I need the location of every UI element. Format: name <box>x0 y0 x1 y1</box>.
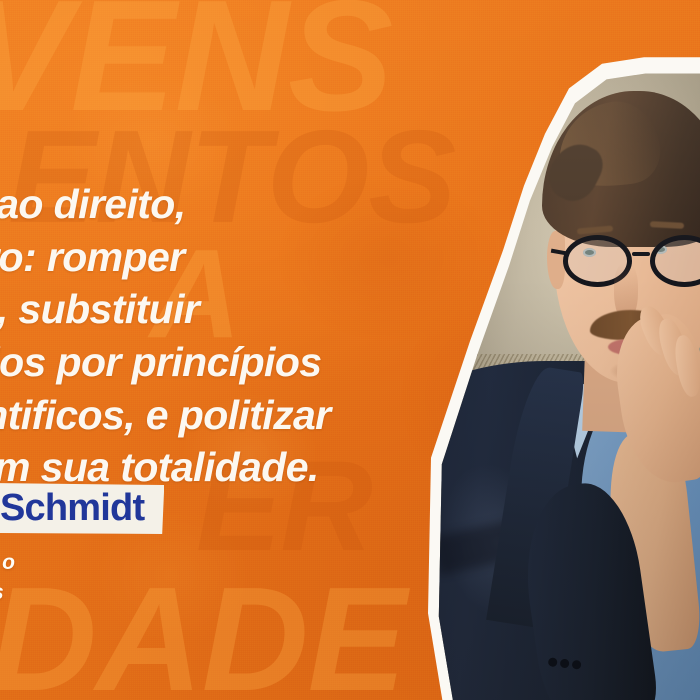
portrait-image-clip <box>404 56 700 700</box>
quote-card-canvas: VENS ENTOS A ER DADE gia ao direito, cla… <box>0 0 700 700</box>
speaker-name-label: Schmidt <box>0 489 144 527</box>
subtitle-line: achina e o <box>0 548 334 578</box>
speaker-portrait <box>404 56 700 700</box>
portrait-illustration <box>404 56 700 700</box>
subtitle-text: achina e o anidades <box>0 548 334 608</box>
subtitle-line: anidades <box>0 578 334 608</box>
portrait-color-tone <box>404 56 700 700</box>
speaker-name-badge: Schmidt <box>0 482 164 534</box>
